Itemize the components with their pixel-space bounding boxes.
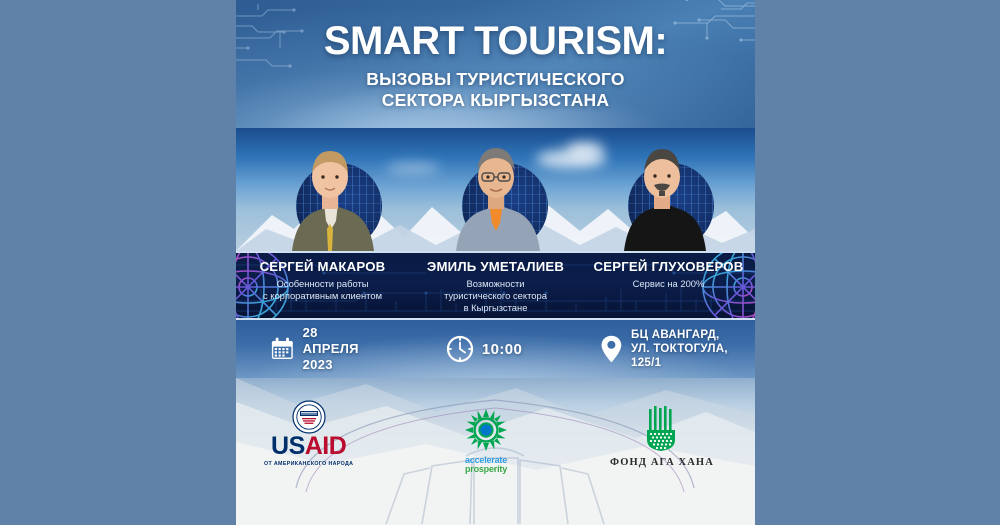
speaker-name: СЕРГЕЙ МАКАРОВ	[240, 259, 405, 274]
map-pin-icon	[600, 334, 623, 364]
topic-line-1: Возможности	[413, 278, 578, 290]
location-line-2: УЛ. ТОКТОГУЛА, 125/1	[631, 342, 755, 370]
page-subtitle: ВЫЗОВЫ ТУРИСТИЧЕСКОГО СЕКТОРА КЫРГЫЗСТАН…	[366, 69, 624, 110]
calendar-icon	[270, 336, 295, 362]
usaid-word-us: US	[271, 432, 305, 460]
speaker-portrait-2	[444, 133, 548, 251]
usaid-word-aid: AID	[305, 432, 347, 460]
subtitle-line-2: СЕКТОРА КЫРГЫЗСТАНА	[366, 90, 624, 111]
speaker-entry-1: СЕРГЕЙ МАКАРОВ Особенности работы с корп…	[236, 259, 409, 318]
speaker-names-band: СЕРГЕЙ МАКАРОВ Особенности работы с корп…	[236, 251, 755, 320]
location-line-1: БЦ АВАНГАРД,	[631, 328, 755, 342]
speaker-entry-2: ЭМИЛЬ УМЕТАЛИЕВ Возможности туристическо…	[409, 259, 582, 318]
event-location: БЦ АВАНГАРД, УЛ. ТОКТОГУЛА, 125/1	[600, 328, 755, 370]
event-poster: SMART TOURISM: ВЫЗОВЫ ТУРИСТИЧЕСКОГО СЕК…	[236, 0, 755, 525]
logo-aga-khan-foundation: ФОНД АГА ХАНА	[610, 406, 714, 468]
event-date: 28 АПРЕЛЯ 2023	[270, 325, 374, 373]
speaker-portrait-3	[610, 133, 714, 251]
aga-khan-foundation-caption: ФОНД АГА ХАНА	[610, 457, 714, 468]
speaker-name: СЕРГЕЙ ГЛУХОВЕРОВ	[586, 259, 751, 274]
cloud-shape	[566, 142, 604, 158]
letterbox-background: SMART TOURISM: ВЫЗОВЫ ТУРИСТИЧЕСКОГО СЕК…	[0, 0, 1000, 525]
date-line-1: 28 АПРЕЛЯ	[303, 325, 374, 357]
speaker-name: ЭМИЛЬ УМЕТАЛИЕВ	[413, 259, 578, 274]
accelerate-prosperity-sunburst-icon	[464, 408, 508, 452]
speaker-photos-section	[236, 128, 755, 251]
topic-line-2: с корпоративным клиентом	[240, 290, 405, 302]
speaker-topic: Возможности туристического сектора в Кыр…	[413, 278, 578, 315]
topic-line-1: Сервис на 200%	[586, 278, 751, 290]
subtitle-line-1: ВЫЗОВЫ ТУРИСТИЧЕСКОГО	[366, 69, 624, 90]
event-location-text: БЦ АВАНГАРД, УЛ. ТОКТОГУЛА, 125/1	[631, 328, 755, 370]
accelerate-prosperity-line-2: prosperity	[465, 465, 507, 474]
speaker-photo-2	[444, 133, 548, 251]
poster-title-section: SMART TOURISM: ВЫЗОВЫ ТУРИСТИЧЕСКОГО СЕК…	[236, 0, 755, 128]
usaid-seal-icon	[292, 400, 326, 434]
speaker-entry-3: СЕРГЕЙ ГЛУХОВЕРОВ Сервис на 200%	[582, 259, 755, 318]
clock-icon	[446, 335, 474, 363]
event-date-text: 28 АПРЕЛЯ 2023	[303, 325, 374, 373]
usaid-wordmark: USAID	[271, 434, 346, 459]
speaker-portrait-1	[278, 133, 382, 251]
usaid-tagline: ОТ АМЕРИКАНСКОГО НАРОДА	[264, 461, 353, 467]
speaker-topic: Особенности работы с корпоративным клиен…	[240, 278, 405, 302]
logo-accelerate-prosperity: accelerate prosperity	[464, 408, 508, 474]
event-details-bar: 28 АПРЕЛЯ 2023 10:00	[236, 320, 755, 378]
sponsor-logos-section: USAID ОТ АМЕРИКАНСКОГО НАРОДА	[236, 378, 755, 525]
page-title: SMART TOURISM:	[324, 21, 667, 61]
date-line-2: 2023	[303, 357, 374, 373]
speaker-photo-3	[610, 133, 714, 251]
logo-usaid: USAID ОТ АМЕРИКАНСКОГО НАРОДА	[264, 400, 353, 467]
cloud-shape	[386, 162, 440, 174]
topic-line-2: туристического сектора	[413, 290, 578, 302]
speaker-topic: Сервис на 200%	[586, 278, 751, 290]
event-time-text: 10:00	[482, 341, 522, 358]
event-time: 10:00	[446, 335, 522, 363]
speaker-photo-1	[278, 133, 382, 251]
topic-line-1: Особенности работы	[240, 278, 405, 290]
aga-khan-foundation-icon	[641, 406, 683, 452]
topic-line-3: в Кыргызстане	[413, 302, 578, 314]
